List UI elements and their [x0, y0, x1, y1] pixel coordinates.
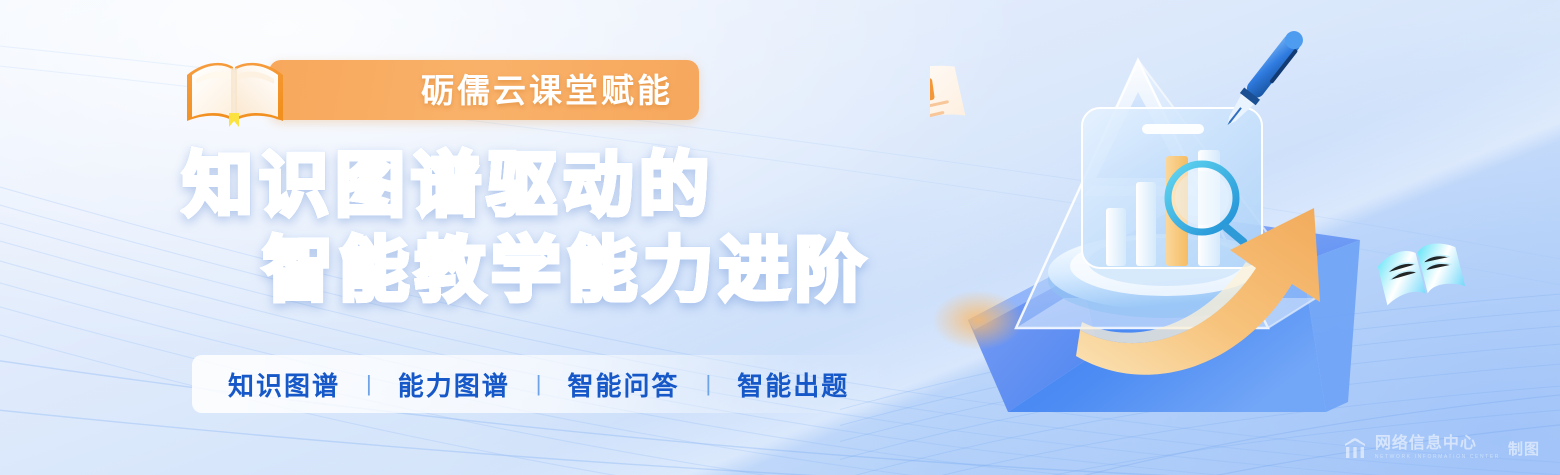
- watermark-name-en: NETWORK INFORMATION CENTER: [1375, 455, 1500, 460]
- tag-bar: 知识图谱 | 能力图谱 | 智能问答 | 智能出题: [192, 355, 892, 413]
- watermark: 网络信息中心 NETWORK INFORMATION CENTER 制图: [1342, 435, 1540, 461]
- badge-row: 砺儒云课堂赋能: [183, 52, 699, 128]
- tag-separator-0: |: [366, 371, 372, 397]
- hero-illustration: [930, 0, 1560, 475]
- orange-glow: [932, 290, 1024, 350]
- headline-line-1: 知识图谱驱动的: [183, 143, 923, 228]
- tag-item-0[interactable]: 知识图谱: [228, 366, 340, 403]
- tag-separator-1: |: [536, 371, 542, 397]
- page-title: 知识图谱驱动的 智能教学能力进阶: [183, 143, 923, 314]
- floating-paper-icon: [930, 62, 967, 140]
- headline-line-2: 智能教学能力进阶: [183, 228, 923, 313]
- badge-label: 砺儒云课堂赋能: [421, 74, 673, 107]
- watermark-suffix: 制图: [1508, 438, 1540, 459]
- tag-item-2[interactable]: 智能问答: [567, 366, 679, 403]
- watermark-text-stack: 网络信息中心 NETWORK INFORMATION CENTER: [1375, 436, 1500, 460]
- badge-pill: 砺儒云课堂赋能: [269, 60, 699, 120]
- tag-item-3[interactable]: 智能出题: [737, 366, 849, 403]
- tag-separator-2: |: [705, 371, 711, 397]
- watermark-name-cn: 网络信息中心: [1375, 436, 1500, 452]
- open-book-blue-icon: [1376, 239, 1465, 306]
- chart-panel-icon: [1082, 108, 1262, 268]
- fountain-pen-icon: [1220, 27, 1308, 132]
- nic-logo-icon: [1342, 435, 1368, 461]
- tag-item-1[interactable]: 能力图谱: [398, 366, 510, 403]
- hero-banner: 砺儒云课堂赋能 知识图谱驱动的 智能教学能力进阶 知识图谱 | 能力图谱 | 智…: [0, 0, 1560, 475]
- open-book-icon: [183, 51, 287, 129]
- banner-content: 砺儒云课堂赋能 知识图谱驱动的 智能教学能力进阶 知识图谱 | 能力图谱 | 智…: [0, 0, 900, 475]
